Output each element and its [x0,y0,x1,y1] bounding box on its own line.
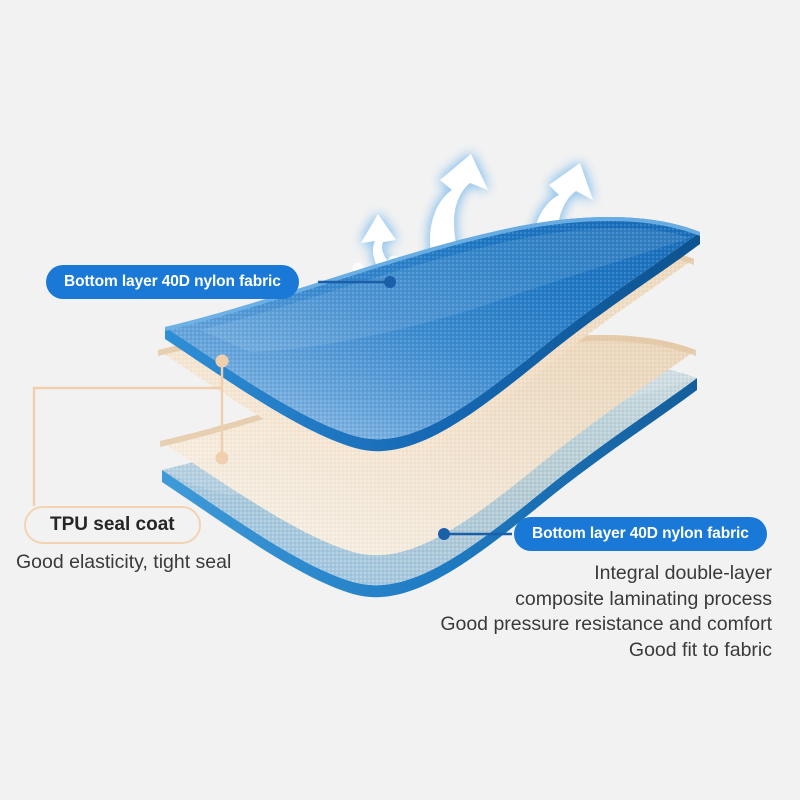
connector-dot-bottom [438,528,450,540]
caption-line-2: composite laminating process [440,587,772,613]
caption-line-4: Good fit to fabric [440,638,772,664]
caption-tpu-description: Good elasticity, tight seal [16,550,231,575]
label-bottom-nylon-fabric[interactable]: Bottom layer 40D nylon fabric [514,517,767,551]
infographic-canvas: Bottom layer 40D nylon fabric Bottom lay… [0,0,800,800]
caption-line-3: Good pressure resistance and comfort [440,612,772,638]
caption-lamination-description: Integral double-layer composite laminati… [440,561,772,663]
fabric-layer-illustration [0,0,800,800]
label-top-nylon-fabric[interactable]: Bottom layer 40D nylon fabric [46,265,299,299]
caption-line-1: Integral double-layer [440,561,772,587]
connector-dot-tpu-lower [216,452,229,465]
connector-dot-tpu-upper [216,355,229,368]
connector-dot-top [384,276,396,288]
label-tpu-seal-coat[interactable]: TPU seal coat [24,506,201,544]
